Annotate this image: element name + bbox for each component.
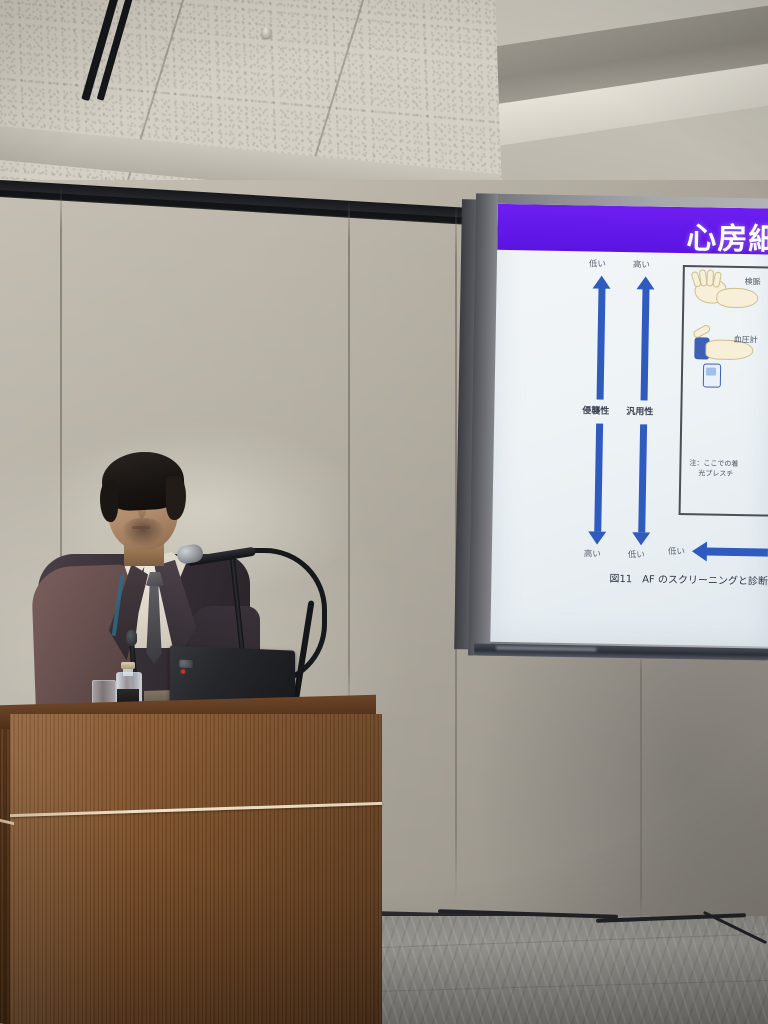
bp-device-screen: [706, 367, 716, 375]
presentation-room-photo: 心房細 低い 侵襲性 高い 高い 汎用性 低い: [0, 0, 768, 1024]
ceiling: [0, 0, 768, 196]
slide-note-line-1: 注：ここでの着: [689, 458, 738, 469]
bottom-arrow-head: [692, 541, 707, 561]
left-arrow-middle-label: 侵襲性: [582, 403, 609, 416]
beard: [122, 518, 164, 546]
wall-panel-seam: [640, 650, 642, 920]
right-arrow-up-shaft: [640, 288, 649, 400]
bottom-arrow-shaft: [706, 547, 768, 556]
right-arrow-top-label: 高い: [633, 258, 650, 270]
left-arrow-top-label: 低い: [589, 257, 606, 269]
left-arrow-down-shaft: [594, 424, 603, 532]
laptop-logo: [179, 660, 192, 669]
sprinkler-head: [262, 27, 271, 38]
slide-note-line-2: 光プレスチ: [689, 468, 738, 479]
hair-side-right: [166, 476, 186, 520]
bottom-arrow-label: 低い: [668, 545, 685, 557]
mouth: [132, 526, 150, 529]
projection-screen: 心房細 低い 侵襲性 高い 高い 汎用性 低い: [468, 193, 768, 668]
slide-title: 心房細: [686, 213, 768, 259]
podium-shading: [10, 714, 382, 1024]
bp-monitor-label: 血圧計: [734, 334, 758, 345]
left-arrow-bottom-label: 高い: [584, 547, 601, 559]
slide-diagram: 低い 侵襲性 高い 高い 汎用性 低い: [490, 250, 768, 647]
hair-side-left: [100, 480, 118, 522]
right-arrow-down-shaft: [638, 424, 647, 532]
left-arrow-up-shaft: [596, 288, 605, 400]
slide-note: 注：ここでの着 光プレスチ: [689, 458, 738, 479]
pulse-check-label: 検脈: [745, 276, 761, 287]
wooden-podium: [0, 700, 388, 1024]
figure-caption: 図11 AF のスクリーニングと診断: [609, 570, 768, 588]
laptop-indicator-light: [181, 669, 185, 673]
left-arrow-down-head: [588, 531, 606, 544]
right-arrow-bottom-label: 低い: [628, 548, 645, 560]
right-arrow-middle-label: 汎用性: [626, 404, 653, 417]
slide-content: 心房細 低い 侵襲性 高い 高い 汎用性 低い: [490, 204, 768, 647]
wall-panel-seam: [348, 198, 350, 718]
right-arrow-down-head: [632, 532, 650, 545]
water-bottle-cap: [121, 662, 135, 669]
second-microphone-head: [126, 630, 137, 646]
pulse-check-wrist: [716, 288, 758, 309]
